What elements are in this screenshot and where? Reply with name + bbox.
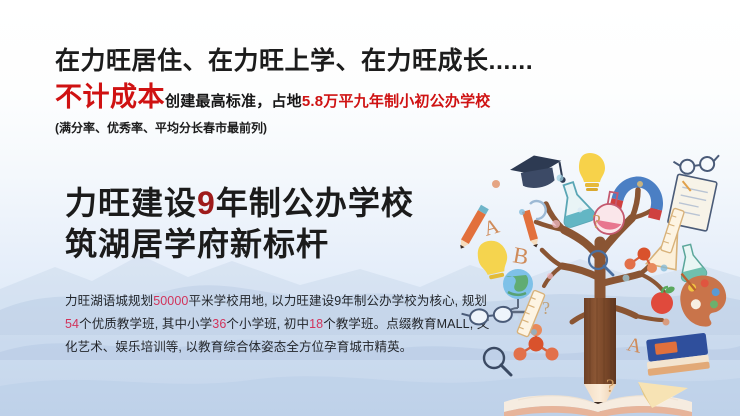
magnifier-icon <box>484 348 511 375</box>
subheadline-emphasis-red: 不计成本 <box>55 82 165 112</box>
palette-icon <box>678 269 730 329</box>
subheadline-row: 不计成本创建最高标准，占地5.8万平九年制小初公办学校 <box>55 84 490 111</box>
subheadline-emphasis-red2: 5.8万平九年制小初公办学校 <box>302 93 491 110</box>
headline-note: (满分率、优秀率、平均分长春市最前列) <box>55 119 267 136</box>
body-number: 50000 <box>153 294 188 308</box>
body-paragraph: 力旺湖语城规划50000平米学校用地, 以力旺建设9年制公办学校为核心, 规划5… <box>65 290 495 358</box>
lightbulb-icon <box>579 153 605 191</box>
body-number: 54 <box>65 317 79 331</box>
eyeglasses-icon <box>461 306 512 326</box>
letter-a-icon: A <box>481 213 503 240</box>
text-block: 在力旺居住、在力旺上学、在力旺成长...... 不计成本创建最高标准，占地5.8… <box>55 0 525 416</box>
graduation-cap-icon <box>508 151 566 192</box>
body-text: 个小学班, 初中 <box>226 317 309 331</box>
page-title: 力旺建设9年制公办学校 筑湖居学府新标杆 <box>65 183 414 265</box>
eyeglasses-icon <box>673 155 721 175</box>
pencil-tree-illustration: A B A ? ? ? <box>460 150 740 416</box>
question-mark-icon: ? <box>606 376 614 397</box>
question-mark-icon: ? <box>542 298 550 318</box>
book-icon <box>644 333 710 376</box>
title-number-9: 9 <box>197 185 216 221</box>
question-mark-icon: ? <box>592 211 601 233</box>
pencil-icon <box>522 210 540 249</box>
subheadline-black: 创建最高标准，占地 <box>165 93 302 110</box>
lightbulb-icon <box>475 238 511 281</box>
poster-canvas: 在力旺居住、在力旺上学、在力旺成长...... 不计成本创建最高标准，占地5.8… <box>0 0 740 416</box>
body-text: 力旺湖语城规划 <box>65 294 153 308</box>
body-number: 18 <box>309 317 323 331</box>
body-number: 36 <box>212 317 226 331</box>
title-line1-suffix: 年制公办学校 <box>216 185 414 221</box>
ruler-icon <box>660 208 684 253</box>
body-text: 平米学校用地, 以力旺建设9年制公办学校为核心, 规划 <box>188 294 487 308</box>
apple-icon <box>651 285 676 314</box>
ring-icon <box>530 201 546 219</box>
headline-kicker: 在力旺居住、在力旺上学、在力旺成长...... <box>55 41 533 77</box>
body-text: 个优质教学班, 其中小学 <box>79 317 212 331</box>
title-line2: 筑湖居学府新标杆 <box>65 224 414 265</box>
letter-b-icon: B <box>511 242 530 269</box>
letter-a-icon: A <box>625 333 644 358</box>
title-line1-prefix: 力旺建设 <box>65 185 197 221</box>
